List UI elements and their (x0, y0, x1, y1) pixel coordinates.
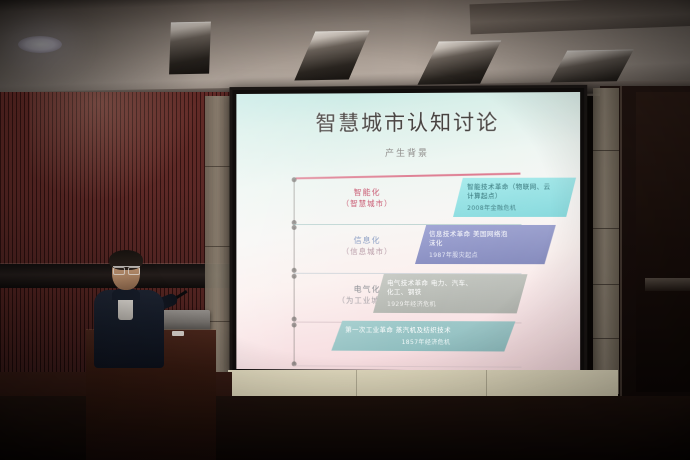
right-wall-seam (620, 86, 622, 396)
slide-canvas: 智慧城市认知讨论 产生背景 智能化 （智慧城市） 智能技术革命（物联网、云 计算… (236, 92, 580, 371)
projection-screen: 智慧城市认知讨论 产生背景 智能化 （智慧城市） 智能技术革命（物联网、云 计算… (229, 85, 587, 378)
presenter (88, 252, 168, 362)
slide-glare (236, 92, 580, 371)
right-pilaster (593, 88, 619, 394)
lecture-hall-photo: 智慧城市认知讨论 产生背景 智能化 （智慧城市） 智能技术革命（物联网、云 计算… (0, 0, 690, 460)
glasses-icon (113, 266, 140, 273)
laptop-badge (172, 331, 184, 336)
right-wall-fixture (645, 278, 690, 291)
right-dark-panel (636, 92, 690, 392)
left-wall-light-glow (30, 92, 200, 202)
